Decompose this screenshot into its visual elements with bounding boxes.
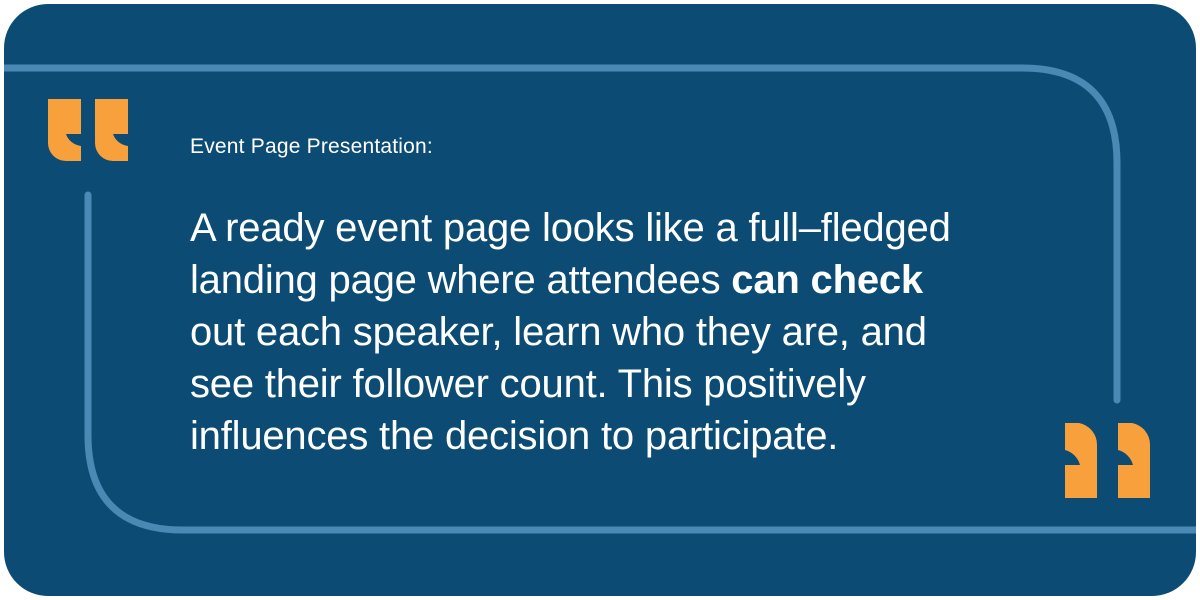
- quote-text: A ready event page looks like a full–fle…: [190, 202, 1090, 462]
- quote-line-4: see their follower count. This positivel…: [190, 358, 1090, 410]
- quote-line-3: out each speaker, learn who they are, an…: [190, 306, 1090, 358]
- screenshot-canvas: Event Page Presentation: A ready event p…: [0, 0, 1200, 600]
- quote-line-5: influences the decision to participate.: [190, 410, 1090, 462]
- quote-line-2-lead: landing page where attendees: [190, 258, 731, 302]
- quote-line-1: A ready event page looks like a full–fle…: [190, 202, 1090, 254]
- quote-open-icon: [48, 99, 131, 161]
- quote-line-2: landing page where attendees can check: [190, 254, 1090, 306]
- quote-card: Event Page Presentation: A ready event p…: [4, 4, 1196, 596]
- quote-content: Event Page Presentation: A ready event p…: [190, 134, 1090, 462]
- quote-emphasis: can check: [731, 258, 923, 302]
- eyebrow-label: Event Page Presentation:: [190, 134, 1090, 160]
